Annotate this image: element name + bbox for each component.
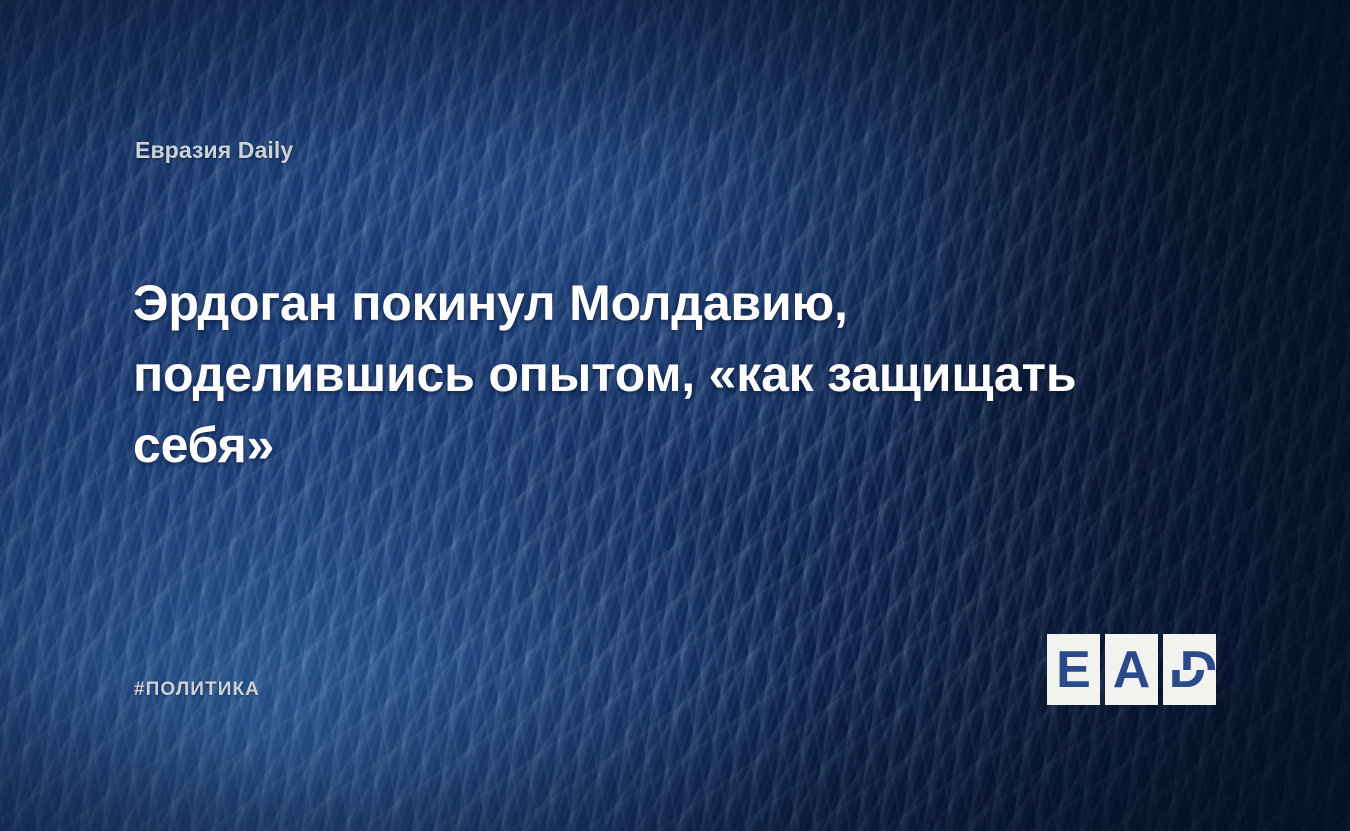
logo-letter-d-lower: D: [1163, 670, 1214, 706]
logo-letter-d-top-half: D: [1163, 634, 1216, 670]
logo-letter-d-upper: D: [1172, 634, 1216, 670]
rubric-tag-politics: #ПОЛИТИКА: [134, 679, 260, 701]
logo-letter-d-bottom-half: D: [1163, 670, 1216, 706]
card-content: Евразия Daily Эрдоган покинул Молдавию, …: [0, 0, 1350, 831]
news-card: Евразия Daily Эрдоган покинул Молдавию, …: [0, 0, 1350, 831]
logo-tile-e: E: [1047, 634, 1100, 705]
ead-logo: E A D D: [1047, 634, 1216, 705]
logo-tile-a: A: [1105, 634, 1158, 705]
logo-tile-d: D D: [1163, 634, 1216, 705]
logo-letter-e: E: [1047, 634, 1100, 705]
logo-letter-a: A: [1105, 634, 1158, 705]
headline-text: Эрдоган покинул Молдавию, поделившись оп…: [133, 268, 1203, 481]
brand-wordmark: Евразия Daily: [135, 138, 293, 163]
